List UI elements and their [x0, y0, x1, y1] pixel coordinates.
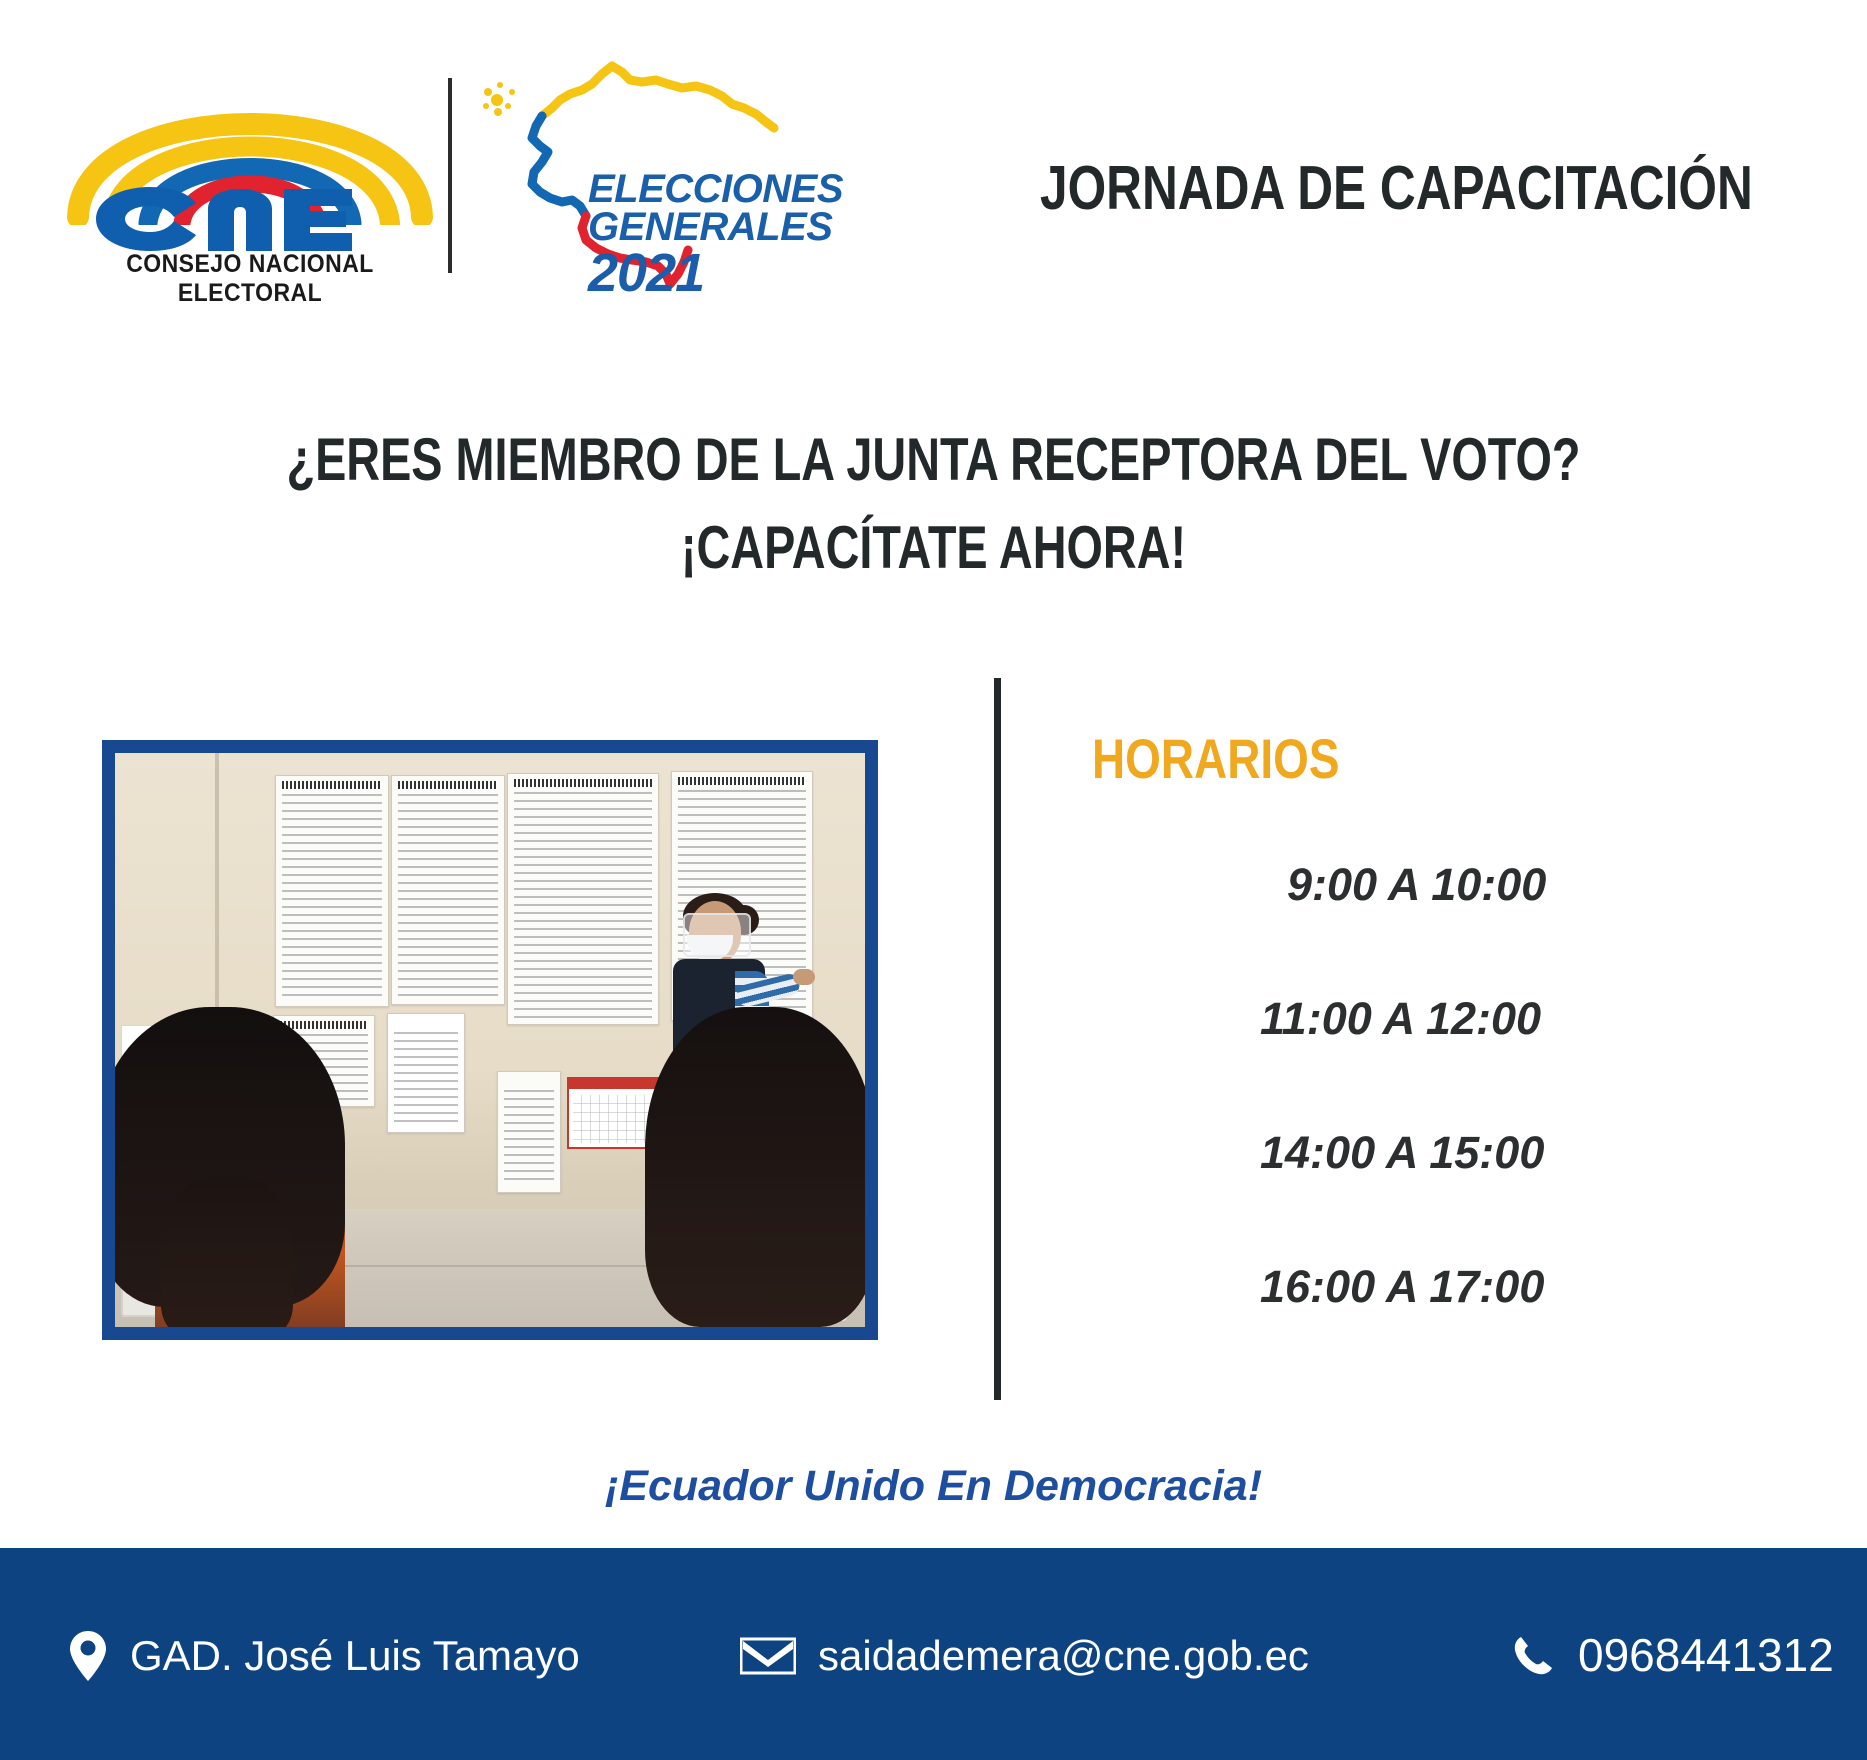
attendee-left [115, 1007, 345, 1327]
elecciones-text: ELECCIONES GENERALES 2021 [588, 170, 878, 299]
vertical-divider [994, 678, 1001, 1400]
phone-icon [1512, 1633, 1556, 1677]
schedule-title: HORARIOS [1092, 726, 1339, 791]
elecciones-generales-logo: ELECCIONES GENERALES 2021 [470, 52, 890, 297]
cne-logo: CONSEJO NACIONAL ELECTORAL [60, 45, 440, 285]
cne-subtitle: CONSEJO NACIONAL ELECTORAL [75, 250, 425, 308]
location-pin-icon [68, 1630, 108, 1682]
footer-location: GAD. José Luis Tamayo [68, 1630, 580, 1682]
elecciones-year: 2021 [588, 248, 878, 299]
footer-phone: 0968441312 [1512, 1628, 1834, 1682]
wall-poster [391, 775, 505, 1005]
footer-email-label: saidademera@cne.gob.ec [818, 1632, 1309, 1680]
footer-email: saidademera@cne.gob.ec [740, 1632, 1309, 1680]
schedule-list: 9:00 A 10:00 11:00 A 12:00 14:00 A 15:00… [1260, 862, 1680, 1309]
schedule-item: 14:00 A 15:00 [1260, 1130, 1680, 1175]
tagline: ¡Ecuador Unido En Democracia! [0, 1462, 1867, 1511]
cne-wordmark-icon [80, 175, 420, 255]
schedule-item: 9:00 A 10:00 [1260, 862, 1680, 907]
schedule-item: 16:00 A 17:00 [1260, 1264, 1680, 1309]
header: CONSEJO NACIONAL ELECTORAL ELECCIONES GE… [0, 0, 1867, 320]
logo-divider [448, 78, 452, 273]
footer-phone-label: 0968441312 [1578, 1628, 1834, 1682]
hanging-papers [497, 1071, 561, 1193]
wall-poster [507, 773, 659, 1025]
schedule-item: 11:00 A 12:00 [1260, 996, 1680, 1041]
main-question: ¿ERES MIEMBRO DE LA JUNTA RECEPTORA DEL … [0, 430, 1867, 578]
footer-bar: GAD. José Luis Tamayo saidademera@cne.go… [0, 1548, 1867, 1760]
envelope-icon [740, 1636, 796, 1676]
page-title: JORNADA DE CAPACITACIÓN [1040, 158, 1753, 220]
footer-location-label: GAD. José Luis Tamayo [130, 1632, 580, 1680]
question-line-2: ¡CAPACÍTATE AHORA! [205, 518, 1661, 578]
training-photo-image: GAD [115, 753, 865, 1327]
wall-poster [275, 775, 389, 1007]
attendee-right [645, 1007, 865, 1327]
question-line-1: ¿ERES MIEMBRO DE LA JUNTA RECEPTORA DEL … [205, 430, 1661, 490]
hanging-papers [387, 1013, 465, 1133]
training-photo: GAD [102, 740, 878, 1340]
